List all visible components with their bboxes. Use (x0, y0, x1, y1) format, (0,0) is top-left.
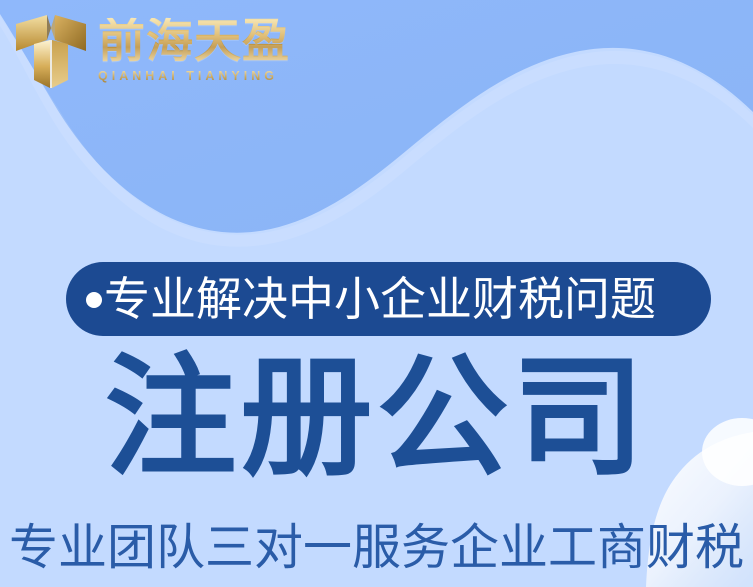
bullet-dot-icon (86, 292, 102, 308)
brand-name-cn: 前海天盈 (98, 18, 290, 65)
page-title: 注册公司 (0, 352, 753, 484)
folded-t-emblem-icon (14, 10, 88, 92)
brand-name-en: QIANHAI TIANYING (98, 70, 278, 83)
brand-text: 前海天盈 QIANHAI TIANYING (98, 10, 290, 83)
subtitle-text: 专业团队三对一服务企业工商财税 (0, 521, 753, 575)
tagline-text: 专业解决中小企业财税问题 (104, 276, 656, 322)
tagline-pill-banner[interactable]: 专业解决中小企业财税问题 (66, 262, 711, 336)
brand-logo[interactable]: 前海天盈 QIANHAI TIANYING (14, 10, 290, 92)
promotional-poster: 前海天盈 QIANHAI TIANYING 专业解决中小企业财税问题 注册公司 … (0, 0, 753, 587)
